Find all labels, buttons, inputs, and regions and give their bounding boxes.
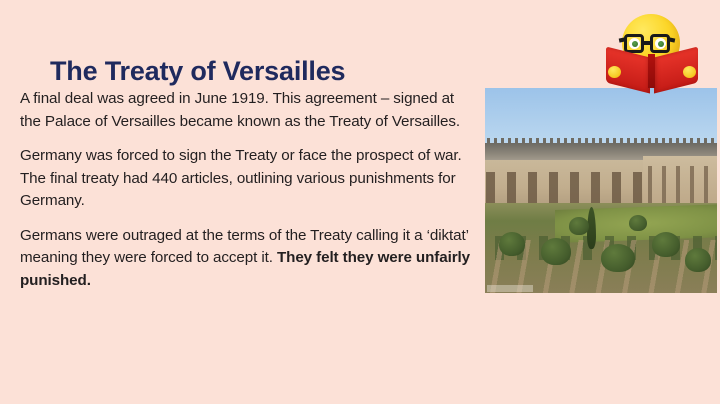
paragraph-2-text: Germany was forced to sign the Treaty or… [20,147,462,209]
body-paragraph-2: Germany was forced to sign the Treaty or… [20,145,475,213]
body-paragraph-1: A final deal was agreed in June 1919. Th… [20,88,475,133]
photo-wing-columns [643,166,717,207]
photo-tree [499,232,525,256]
paragraph-1-text: A final deal was agreed in June 1919. Th… [20,90,460,130]
emoji-glasses-lens-right [650,34,670,53]
photo-tree [685,248,711,272]
photo-tree [569,217,589,235]
photo-watermark [487,285,533,292]
emoji-glasses-bridge [644,41,651,45]
photo-tree [652,232,680,257]
emoji-book-spine [648,54,655,88]
photo-tree [629,215,647,231]
nerd-face-reading-book-icon [604,8,700,90]
emoji-hand-right [683,66,696,78]
photo-tree [541,238,571,265]
slide-body-text: A final deal was agreed in June 1919. Th… [20,88,475,304]
emoji-glasses-lens-left [624,34,644,53]
photo-tree [601,244,635,272]
palace-of-versailles-photo [485,88,717,293]
page-title: The Treaty of Versailles [50,56,345,87]
presentation-slide: The Treaty of Versailles A final deal wa… [0,0,720,404]
emoji-hand-left [608,66,621,78]
body-paragraph-3: Germans were outraged at the terms of th… [20,225,475,293]
